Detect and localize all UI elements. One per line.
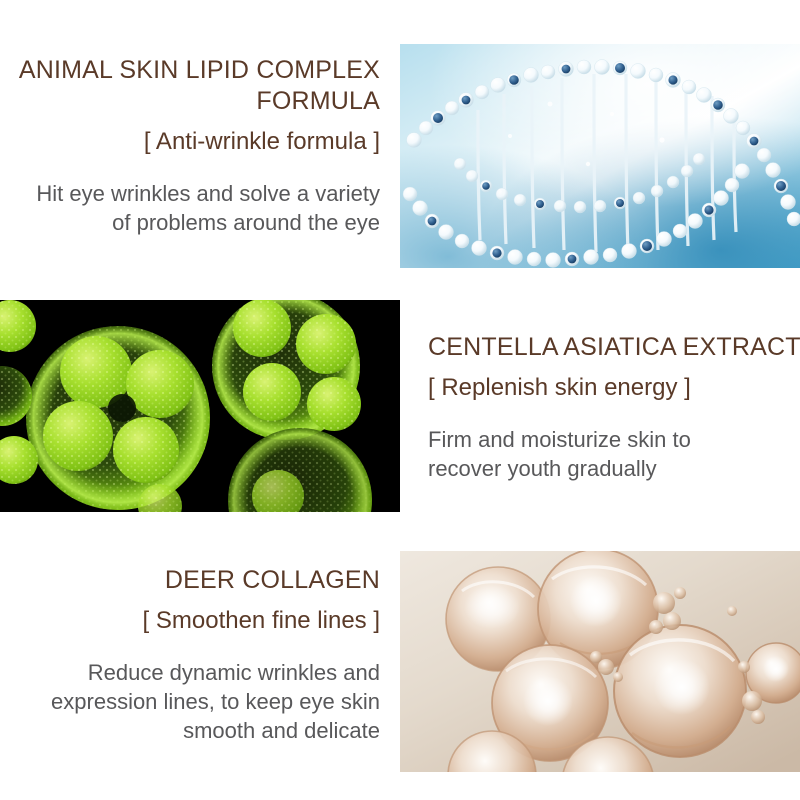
green-algae-cells-photo — [0, 300, 400, 512]
section-3-subheading: [ Smoothen fine lines ] — [0, 606, 380, 636]
section-1-body: Hit eye wrinkles and solve a variety of … — [0, 179, 380, 237]
section-animal-skin-lipid-complex-text: ANIMAL SKIN LIPID COMPLEX FORMULA [ Anti… — [0, 55, 380, 237]
section-centella-asiatica-extract-text: CENTELLA ASIATICA EXTRACT [ Replenish sk… — [428, 332, 800, 483]
section-1-heading: ANIMAL SKIN LIPID COMPLEX FORMULA — [0, 55, 380, 117]
section-deer-collagen-text: DEER COLLAGEN [ Smoothen fine lines ] Re… — [0, 565, 380, 745]
infographic-canvas: ANIMAL SKIN LIPID COMPLEX FORMULA [ Anti… — [0, 0, 800, 800]
algae-colony-left — [26, 326, 210, 510]
section-1-subheading: [ Anti-wrinkle formula ] — [0, 127, 380, 157]
section-3-heading: DEER COLLAGEN — [0, 565, 380, 596]
section-2-body: Firm and moisturize skin to recover yout… — [428, 425, 800, 483]
section-2-subheading: [ Replenish skin energy ] — [428, 373, 800, 403]
dna-double-helix-photo — [400, 44, 800, 268]
section-2-heading: CENTELLA ASIATICA EXTRACT — [428, 332, 800, 363]
dna-illustration — [400, 44, 800, 268]
golden-bubbles-photo — [400, 551, 800, 772]
bubble-right-large — [614, 625, 746, 757]
algae-illustration — [0, 300, 400, 512]
bubbles-illustration — [400, 551, 800, 772]
section-3-body: Reduce dynamic wrinkles and expression l… — [0, 658, 380, 745]
